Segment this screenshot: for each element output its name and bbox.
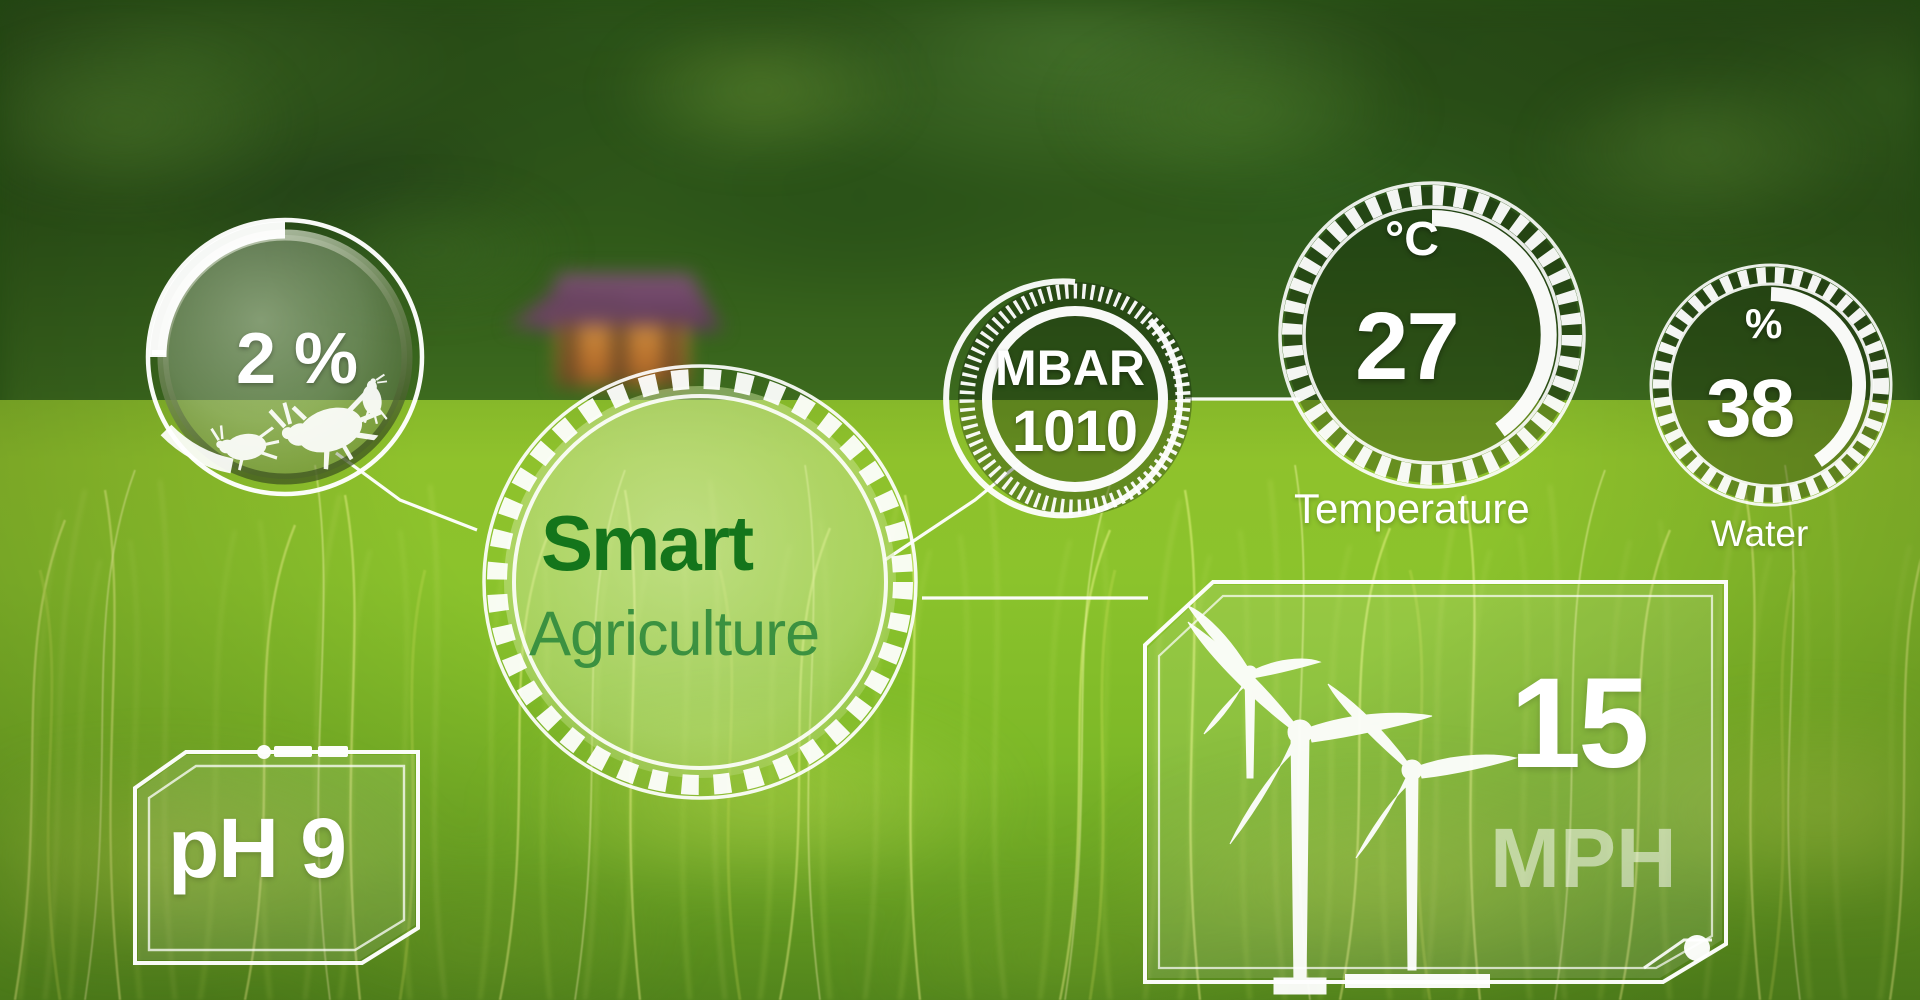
screenshot-stage: 2 % Smart Agriculture [0,0,1920,1000]
wind-unit: MPH [1490,810,1677,907]
wind-value: 15 [1510,650,1646,797]
hud-overlay: 2 % Smart Agriculture [0,0,1920,1000]
wind-bottom-bar [1345,974,1490,988]
